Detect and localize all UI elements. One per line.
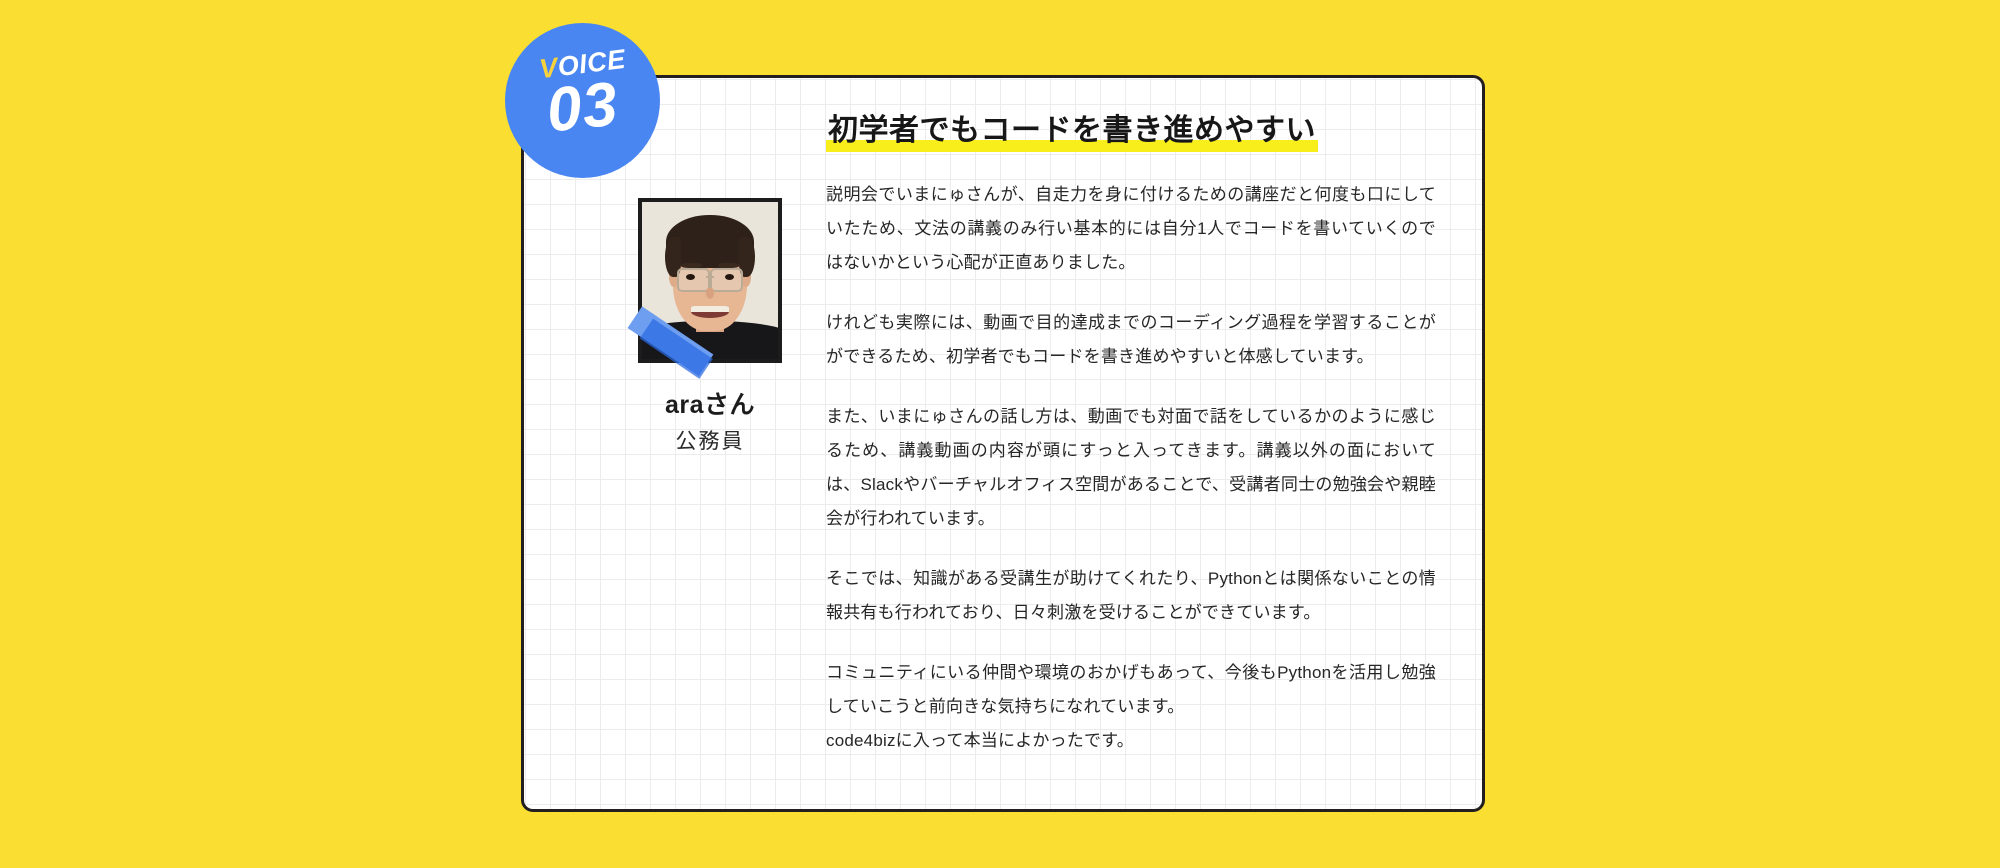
photo-wrapper (638, 198, 782, 363)
testimonial-body: 説明会でいまにゅさんが、自走力を身に付けるための講座だと何度も口にしていたため、… (826, 178, 1436, 758)
page-title: 初学者でもコードを書き進めやすい (826, 112, 1318, 152)
profile-photo (638, 198, 782, 363)
voice-badge: VOICE 03 (505, 23, 660, 178)
person-name: araさん (600, 385, 820, 421)
paragraph: 説明会でいまにゅさんが、自走力を身に付けるための講座だと何度も口にしていたため、… (826, 178, 1436, 280)
paragraph: コミュニティにいる仲間や環境のおかげもあって、今後もPythonを活用し勉強して… (826, 656, 1436, 758)
content-column: 初学者でもコードを書き進めやすい 説明会でいまにゅさんが、自走力を身に付けるため… (826, 112, 1436, 758)
paragraph: けれども実際には、動画で目的達成までのコーディング過程を学習することがができるた… (826, 306, 1436, 374)
paragraph: また、いまにゅさんの話し方は、動画でも対面で話をしているかのように感じるため、講… (826, 400, 1436, 536)
testimonial-card: araさん 公務員 初学者でもコードを書き進めやすい 説明会でいまにゅさんが、自… (521, 75, 1485, 812)
paragraph: そこでは、知識がある受講生が助けてくれたり、Pythonとは関係ないことの情報共… (826, 562, 1436, 630)
person-role: 公務員 (600, 425, 820, 455)
profile-column: araさん 公務員 (600, 198, 820, 455)
